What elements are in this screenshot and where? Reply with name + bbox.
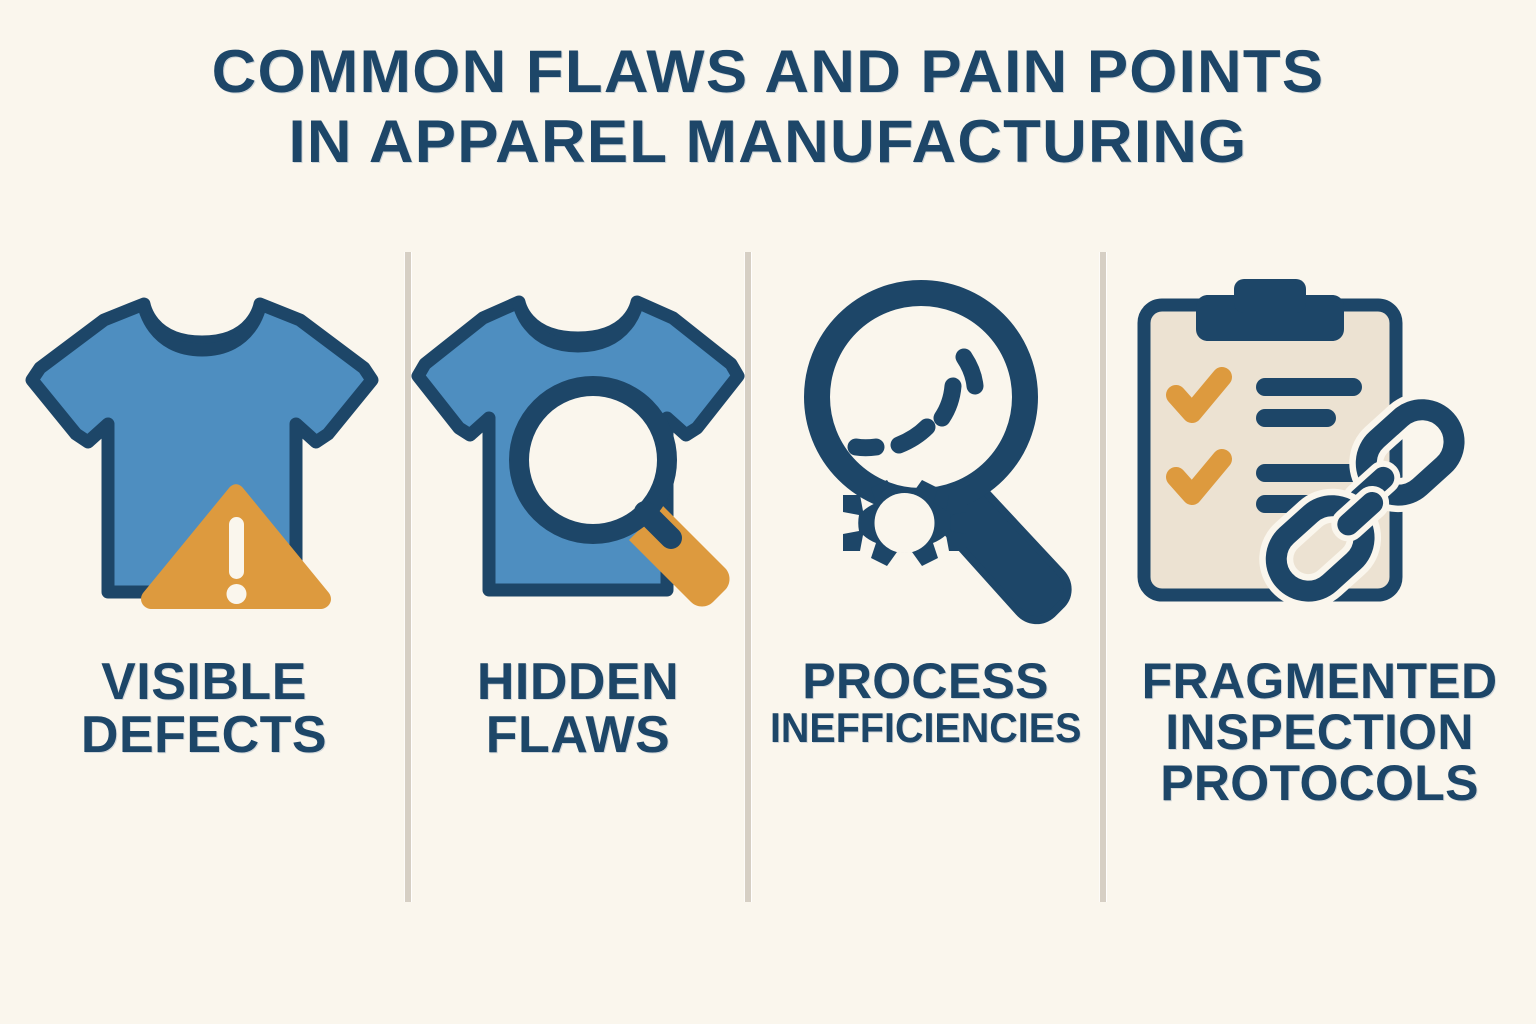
magnifier-gear-icon: [748, 252, 1103, 652]
label-line: FRAGMENTED: [1142, 656, 1498, 707]
column-fragmented-inspection-protocols: FRAGMENTED INSPECTION PROTOCOLS: [1103, 252, 1536, 912]
column-process-inefficiencies: PROCESS INEFFICIENCIES: [748, 252, 1103, 912]
label-line: INSPECTION: [1142, 707, 1498, 758]
column-label-process-inefficiencies: PROCESS INEFFICIENCIES: [760, 656, 1091, 750]
dashed-arc-icon: [856, 357, 975, 448]
title-line-2: IN APPAREL MANUFACTURING: [0, 114, 1536, 170]
column-label-visible-defects: VISIBLE DEFECTS: [81, 656, 327, 762]
tshirt-magnifier-icon: [408, 252, 748, 652]
column-label-hidden-flaws: HIDDEN FLAWS: [477, 656, 679, 762]
label-line: VISIBLE: [81, 656, 327, 709]
label-line: PROCESS: [760, 656, 1091, 707]
clipboard-broken-chain-icon: [1103, 252, 1536, 652]
label-line: HIDDEN: [477, 656, 679, 709]
column-hidden-flaws: HIDDEN FLAWS: [408, 252, 748, 912]
page-title: COMMON FLAWS AND PAIN POINTS IN APPAREL …: [0, 44, 1536, 171]
label-line: FLAWS: [477, 709, 679, 762]
label-line: DEFECTS: [81, 709, 327, 762]
magnifier-lens-icon: [519, 386, 671, 538]
magnifier-lens-icon: [817, 293, 1025, 501]
column-visible-defects: VISIBLE DEFECTS: [0, 252, 408, 912]
column-label-fragmented-inspection-protocols: FRAGMENTED INSPECTION PROTOCOLS: [1142, 656, 1498, 809]
label-line: INEFFICIENCIES: [770, 707, 1081, 750]
columns-container: VISIBLE DEFECTS: [0, 252, 1536, 912]
tshirt-warning-icon: [0, 252, 408, 652]
title-line-1: COMMON FLAWS AND PAIN POINTS: [0, 44, 1536, 100]
infographic-page: COMMON FLAWS AND PAIN POINTS IN APPAREL …: [0, 0, 1536, 1024]
label-line: PROTOCOLS: [1142, 758, 1498, 809]
